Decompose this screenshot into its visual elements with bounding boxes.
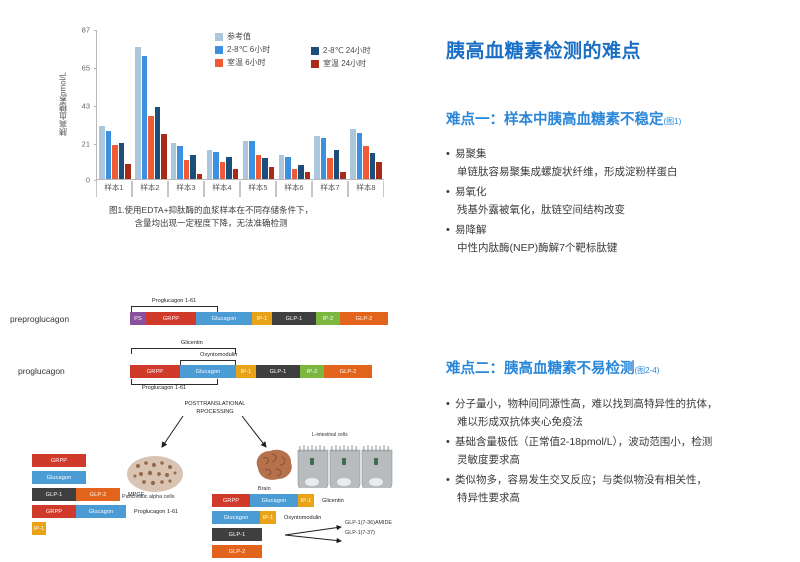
product-sequence: GRPPGlucagonIP-1 (212, 494, 314, 507)
product-row: Glucagon (32, 471, 178, 484)
chart-y-axis-title: 胰高血糖素pmol/L (56, 44, 70, 164)
x-axis-tick-label: 样本8 (348, 181, 384, 197)
bar (298, 165, 304, 179)
product-sequence: GLP-2 (212, 545, 262, 558)
chart-caption: 图1.使用EDTA+抑肽酶的血浆样本在不同存储条件下， 含量均出现一定程度下降，… (56, 204, 366, 230)
legend-item: 参考值 (215, 30, 270, 43)
bar (207, 150, 213, 179)
legend-item: 室温 24小时 (311, 57, 371, 70)
bar (314, 136, 320, 179)
section-2-heading: 难点二：胰高血糖素不易检测(图2-4) (446, 357, 659, 378)
sequence-segment: GLP-1 (272, 312, 316, 325)
bar (184, 160, 190, 179)
section-1-heading-note: (图1) (664, 117, 682, 126)
bar (376, 162, 382, 179)
bullet-block: •易氧化残基外露被氧化，肽链空间结构改变 (446, 184, 786, 219)
bar (161, 134, 167, 179)
legend-label: 室温 6小时 (227, 57, 266, 68)
product-sequence: GLP-1GLP-2 (32, 488, 120, 501)
bar (350, 129, 356, 179)
legend-item: 2-8℃ 24小时 (311, 44, 371, 57)
sequence-segment: GRPP (32, 454, 86, 467)
bar (190, 155, 196, 179)
bullet-text: 易降解 (455, 222, 487, 239)
y-axis-tick-label: 21 (82, 139, 90, 148)
section-1-bullets: •易聚集单链肽容易聚集成螺旋状纤维，形成淀粉样蛋白•易氧化残基外露被氧化，肽链空… (446, 146, 786, 260)
chart-caption-line-2: 含量均出现一定程度下降，无法准确检测 (56, 217, 366, 230)
bar (99, 126, 105, 179)
section-2-heading-note: (图2-4) (635, 366, 660, 375)
sequence-segment: Glucagon (180, 365, 236, 378)
legend-label: 2-8℃ 24小时 (323, 45, 371, 56)
product-tag: Proglucagon 1-61 (134, 509, 178, 515)
bar-group (169, 30, 205, 179)
sequence-segment: Glucagon (196, 312, 252, 325)
bar (327, 158, 333, 179)
product-row: GLP-1GLP-2MPGF (32, 488, 178, 501)
sequence-segment: GRPP (32, 505, 76, 518)
bar (256, 155, 262, 179)
processing-line-1: POSTTRANSLATIONAL (160, 400, 270, 408)
sequence-segment: GLP-1 (256, 365, 300, 378)
page-title: 胰高血糖素检测的难点 (446, 36, 641, 63)
product-tag: Glicentin (322, 498, 344, 504)
bar (321, 138, 327, 179)
bar (334, 150, 340, 179)
bullet-line: •分子量小，物种间同源性高，难以找到高特异性的抗体， (446, 396, 786, 413)
bullet-text: 易氧化 (455, 184, 487, 201)
legend-item: 2-8℃ 6小时 (215, 43, 270, 56)
product-row: IP-1 (32, 522, 178, 535)
bullet-dot-icon: • (446, 184, 455, 201)
l-intestinal-cells-image (296, 440, 394, 493)
sequence-segment: GLP-2 (212, 545, 262, 558)
y-axis-tick-mark (94, 30, 97, 31)
glp1-737-label: GLP-1(7-37) (345, 530, 375, 536)
legend-swatch (311, 60, 319, 68)
glicentin-brace-text: Glicentin (181, 340, 203, 346)
product-sequence: GLP-1 (212, 528, 262, 541)
x-axis-tick-label: 样本2 (132, 181, 168, 197)
sequence-segment: IP-2 (316, 312, 340, 325)
bar (262, 158, 268, 179)
product-row: GLP-2 (212, 545, 344, 558)
bullet-line: •易氧化 (446, 184, 786, 201)
bar (135, 47, 141, 179)
section-2-heading-text: 难点二：胰高血糖素不易检测 (446, 361, 635, 377)
bar (148, 116, 154, 179)
bullet-dot-icon: • (446, 146, 455, 163)
bullet-dot-icon: • (446, 222, 455, 239)
bar (112, 145, 118, 179)
x-axis-tick-label: 样本3 (168, 181, 204, 197)
chart-x-axis-labels: 样本1样本2样本3样本4样本5样本6样本7样本8 (96, 181, 384, 197)
product-row: GRPP (32, 454, 178, 467)
bar (213, 152, 219, 179)
bullet-detail: 中性内肽酶(NEP)酶解7个靶标肽键 (457, 240, 786, 257)
product-tag: MPGF (128, 492, 144, 498)
row2-bottom-brace-text: Proglucagon 1-61 (142, 385, 186, 391)
bullet-block: •易降解中性内肽酶(NEP)酶解7个靶标肽键 (446, 222, 786, 257)
bullet-detail: 残基外露被氧化，肽链空间结构改变 (457, 202, 786, 219)
bar (305, 172, 311, 179)
bullet-dot-icon: • (446, 396, 455, 413)
chart-y-axis-ticks: 876543210 (72, 22, 94, 182)
sequence-segment: GLP-1 (212, 528, 262, 541)
bullet-line: •易聚集 (446, 146, 786, 163)
y-axis-tick-label: 0 (86, 176, 90, 185)
legend-label: 室温 24小时 (323, 58, 366, 69)
bar (269, 167, 275, 179)
bar (220, 162, 226, 179)
bullet-dot-icon: • (446, 434, 455, 451)
bar (233, 169, 239, 179)
bullet-line: •易降解 (446, 222, 786, 239)
bar (226, 157, 232, 179)
slide-root: 胰高血糖素pmol/L 876543210 样本1样本2样本3样本4样本5样本6… (0, 0, 800, 554)
sequence-segment: IP-2 (300, 365, 324, 378)
bar (357, 133, 363, 179)
bullet-detail: 单链肽容易聚集成螺旋状纤维，形成淀粉样蛋白 (457, 164, 786, 181)
glp1-output-arrows (285, 524, 347, 546)
x-axis-tick-label: 样本1 (96, 181, 132, 197)
legend-swatch (215, 33, 223, 41)
bar (292, 169, 298, 179)
x-axis-tick-label: 样本5 (240, 181, 276, 197)
legend-item: 室温 6小时 (215, 56, 270, 69)
section-1-heading-text: 难点一：样本中胰高血糖素不稳定 (446, 112, 664, 128)
left-column: 胰高血糖素pmol/L 876543210 样本1样本2样本3样本4样本5样本6… (0, 0, 420, 554)
chart-legend-column-right: 2-8℃ 24小时室温 24小时 (311, 44, 371, 70)
sequence-segment: IP-1 (298, 494, 314, 507)
bar-group (97, 30, 133, 179)
bar (370, 153, 376, 179)
bar (142, 56, 148, 179)
preproglucagon-sequence: PSGRPPGlucagonIP-1GLP-1IP-2GLP-2 (130, 312, 388, 325)
bullet-block: •易聚集单链肽容易聚集成螺旋状纤维，形成淀粉样蛋白 (446, 146, 786, 181)
brain-image (252, 446, 296, 491)
legend-swatch (215, 59, 223, 67)
proglucagon-diagram: preproglucagon proglucagon Proglucagon 1… (0, 286, 420, 554)
bar-chart: 胰高血糖素pmol/L 876543210 样本1样本2样本3样本4样本5样本6… (0, 8, 420, 248)
bar (285, 157, 291, 179)
sequence-segment: Glucagon (250, 494, 298, 507)
proglucagon-label: proglucagon (18, 366, 65, 376)
pancreatic-products-list: GRPPGlucagonGLP-1GLP-2MPGFGRPPGlucagonPr… (32, 454, 178, 539)
bar (197, 174, 203, 179)
bullet-dot-icon: • (446, 472, 455, 489)
y-axis-tick-mark (94, 144, 97, 145)
bar (106, 131, 112, 179)
sequence-segment: GLP-1 (32, 488, 76, 501)
legend-label: 2-8℃ 6小时 (227, 44, 270, 55)
sequence-segment: Glucagon (212, 511, 260, 524)
oxyntomodulin-brace-text: Oxyntomodulin (200, 352, 237, 358)
sequence-segment: GRPP (130, 365, 180, 378)
y-axis-tick-mark (94, 180, 97, 181)
sequence-segment: GRPP (212, 494, 250, 507)
bullet-text: 基础含量极低（正常值2-18pmol/L），波动范围小，检测 (455, 434, 712, 451)
bullet-line: •基础含量极低（正常值2-18pmol/L），波动范围小，检测 (446, 434, 786, 451)
bullet-block: •基础含量极低（正常值2-18pmol/L），波动范围小，检测灵敏度要求高 (446, 434, 786, 469)
proglucagon-sequence: GRPPGlucagonIP-1GLP-1IP-2GLP-2 (130, 365, 372, 378)
brain-label: Brain (258, 486, 271, 492)
x-axis-tick-label: 样本6 (276, 181, 312, 197)
l-intestinal-cells-label: L-intestinal cells (312, 432, 348, 438)
bullet-line: •类似物多，容易发生交叉反应；与类似物没有相关性， (446, 472, 786, 489)
product-row: GRPPGlucagonIP-1Glicentin (212, 494, 344, 507)
y-axis-tick-mark (94, 68, 97, 69)
product-sequence: GlucagonIP-1 (212, 511, 276, 524)
sequence-segment: Glucagon (32, 471, 86, 484)
x-axis-tick-label: 样本4 (204, 181, 240, 197)
product-sequence: Glucagon (32, 471, 86, 484)
bar (119, 143, 125, 179)
sequence-segment: PS (130, 312, 146, 325)
sequence-segment: IP-1 (260, 511, 276, 524)
product-sequence: GRPPGlucagon (32, 505, 126, 518)
product-tag: Oxyntomodulin (284, 515, 321, 521)
product-sequence: IP-1 (32, 522, 46, 535)
sequence-segment: GLP-2 (324, 365, 372, 378)
bullet-detail: 难以形成双抗体夹心免疫法 (457, 414, 786, 431)
sequence-segment: GLP-2 (76, 488, 120, 501)
section-2-bullets: •分子量小，物种间同源性高，难以找到高特异性的抗体，难以形成双抗体夹心免疫法•基… (446, 396, 786, 510)
product-sequence: GRPP (32, 454, 86, 467)
bar (243, 141, 249, 179)
sequence-segment: IP-1 (252, 312, 272, 325)
bar-group (276, 30, 312, 179)
bar-group (133, 30, 169, 179)
chart-legend-column-left: 参考值2-8℃ 6小时室温 6小时 (215, 30, 270, 69)
bullet-detail: 灵敏度要求高 (457, 452, 786, 469)
y-axis-tick-label: 65 (82, 63, 90, 72)
bar (125, 164, 131, 179)
sequence-segment: Glucagon (76, 505, 126, 518)
bar (171, 143, 177, 179)
bullet-detail: 特异性要求高 (457, 490, 786, 507)
bar (177, 146, 183, 179)
product-row: GRPPGlucagonProglucagon 1-61 (32, 505, 178, 518)
legend-swatch (215, 46, 223, 54)
sequence-segment: GLP-2 (340, 312, 388, 325)
sequence-segment: IP-1 (32, 522, 46, 535)
chart-caption-line-1: 图1.使用EDTA+抑肽酶的血浆样本在不同存储条件下， (56, 204, 366, 217)
bar (363, 146, 369, 179)
bar (249, 141, 255, 179)
sequence-segment: IP-1 (236, 365, 256, 378)
section-1-heading: 难点一：样本中胰高血糖素不稳定(图1) (446, 108, 681, 129)
preproglucagon-label: preproglucagon (10, 314, 69, 324)
bullet-text: 类似物多，容易发生交叉反应；与类似物没有相关性， (455, 472, 707, 489)
bar (155, 107, 161, 179)
bullet-text: 分子量小，物种间同源性高，难以找到高特异性的抗体， (455, 396, 718, 413)
right-column: 胰高血糖素检测的难点 难点一：样本中胰高血糖素不稳定(图1) •易聚集单链肽容易… (420, 0, 800, 554)
y-axis-tick-label: 87 (82, 26, 90, 35)
legend-swatch (311, 47, 319, 55)
x-axis-tick-label: 样本7 (312, 181, 348, 197)
sequence-segment: GRPP (146, 312, 196, 325)
bar (279, 155, 285, 179)
legend-label: 参考值 (227, 31, 251, 42)
row1-brace-text: Proglucagon 1-61 (152, 298, 196, 304)
bullet-block: •类似物多，容易发生交叉反应；与类似物没有相关性，特异性要求高 (446, 472, 786, 507)
y-axis-tick-mark (94, 106, 97, 107)
glp1-amide-label: GLP-1(7-36)AMIDE (345, 520, 392, 526)
product-row: GlucagonIP-1Oxyntomodulin (212, 511, 344, 524)
bullet-block: •分子量小，物种间同源性高，难以找到高特异性的抗体，难以形成双抗体夹心免疫法 (446, 396, 786, 431)
y-axis-tick-label: 43 (82, 101, 90, 110)
bar (340, 172, 346, 179)
bullet-text: 易聚集 (455, 146, 487, 163)
